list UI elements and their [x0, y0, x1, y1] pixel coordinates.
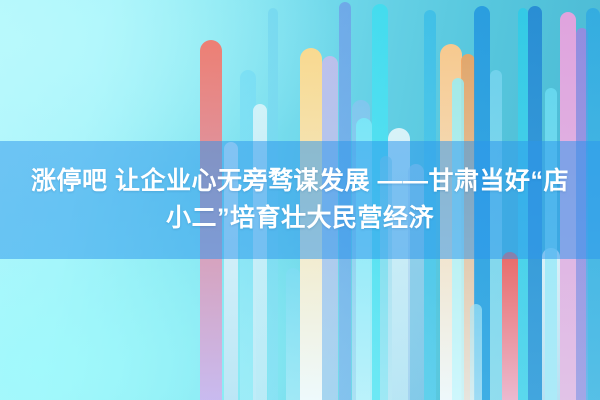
banner-title-line-2: 小二”培育壮大民营经济 [166, 202, 434, 235]
banner-image: 涨停吧 让企业心无旁骛谋发展 ——甘肃当好“店 小二”培育壮大民营经济 [0, 0, 600, 400]
bar-short-a [286, 268, 300, 400]
bar-18 [502, 252, 518, 400]
banner-title: 涨停吧 让企业心无旁骛谋发展 ——甘肃当好“店 小二”培育壮大民营经济 [0, 141, 600, 259]
bar-short-b [470, 304, 482, 400]
banner-title-line-1: 涨停吧 让企业心无旁骛谋发展 ——甘肃当好“店 [31, 165, 569, 198]
